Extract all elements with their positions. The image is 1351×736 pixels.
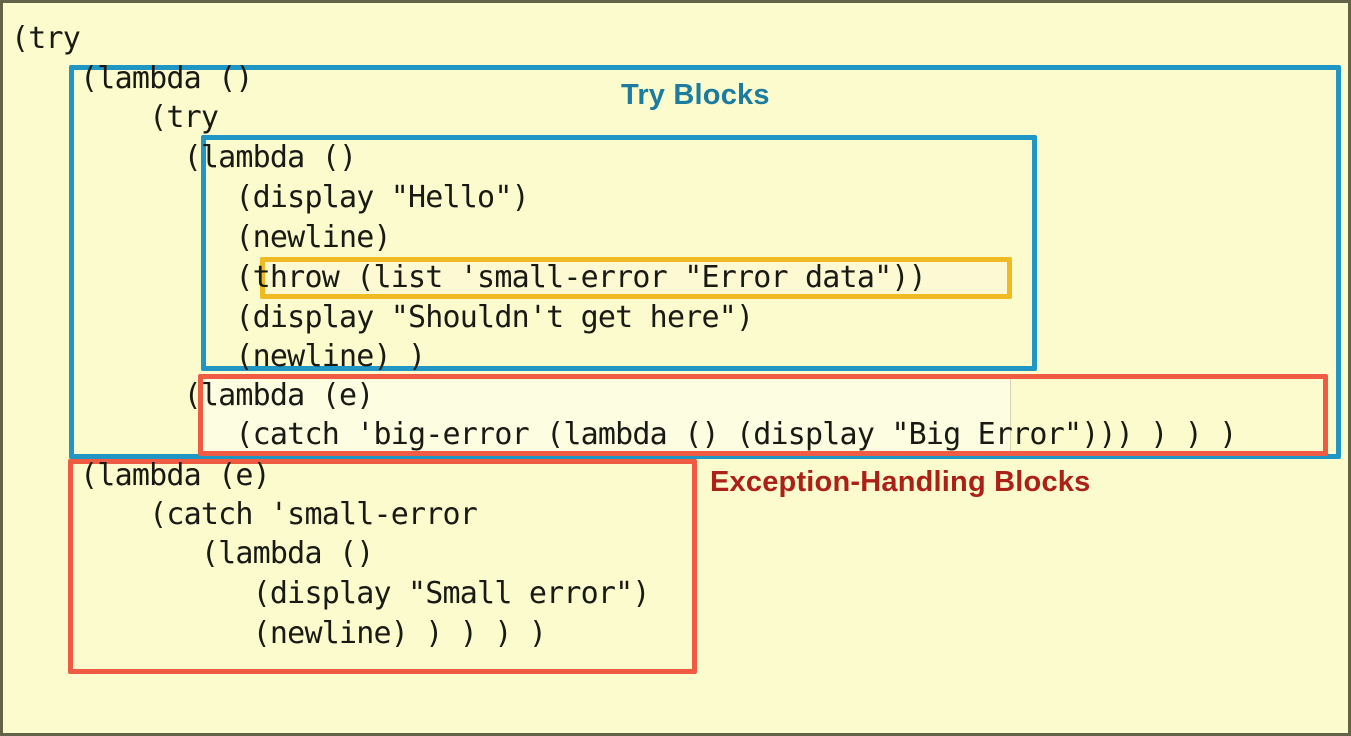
- code-line-11: (catch 'big-error (lambda () (display "B…: [11, 416, 1237, 454]
- code-line-6: (newline): [11, 219, 391, 257]
- code-line-9: (newline) ): [11, 338, 425, 376]
- code-line-1: (try: [11, 20, 80, 58]
- code-line-7: (throw (list 'small-error "Error data")): [11, 259, 926, 297]
- exception-handling-blocks-label: Exception-Handling Blocks: [710, 466, 1090, 499]
- code-line-5: (display "Hello"): [11, 179, 529, 217]
- code-diagram-canvas: (try (lambda () (try (lambda () (display…: [0, 0, 1351, 736]
- code-line-12: (lambda (e): [11, 457, 270, 495]
- code-line-2: (lambda (): [11, 60, 253, 98]
- code-line-14: (lambda (): [11, 535, 374, 573]
- code-line-10: (lambda (e): [11, 377, 374, 415]
- try-blocks-label: Try Blocks: [621, 79, 770, 112]
- code-line-8: (display "Shouldn't get here"): [11, 299, 753, 337]
- code-line-15: (display "Small error"): [11, 575, 650, 613]
- code-line-13: (catch 'small-error: [11, 496, 477, 534]
- code-line-16: (newline) ) ) ) ): [11, 615, 546, 653]
- code-line-3: (try: [11, 99, 218, 137]
- code-line-4: (lambda (): [11, 139, 356, 177]
